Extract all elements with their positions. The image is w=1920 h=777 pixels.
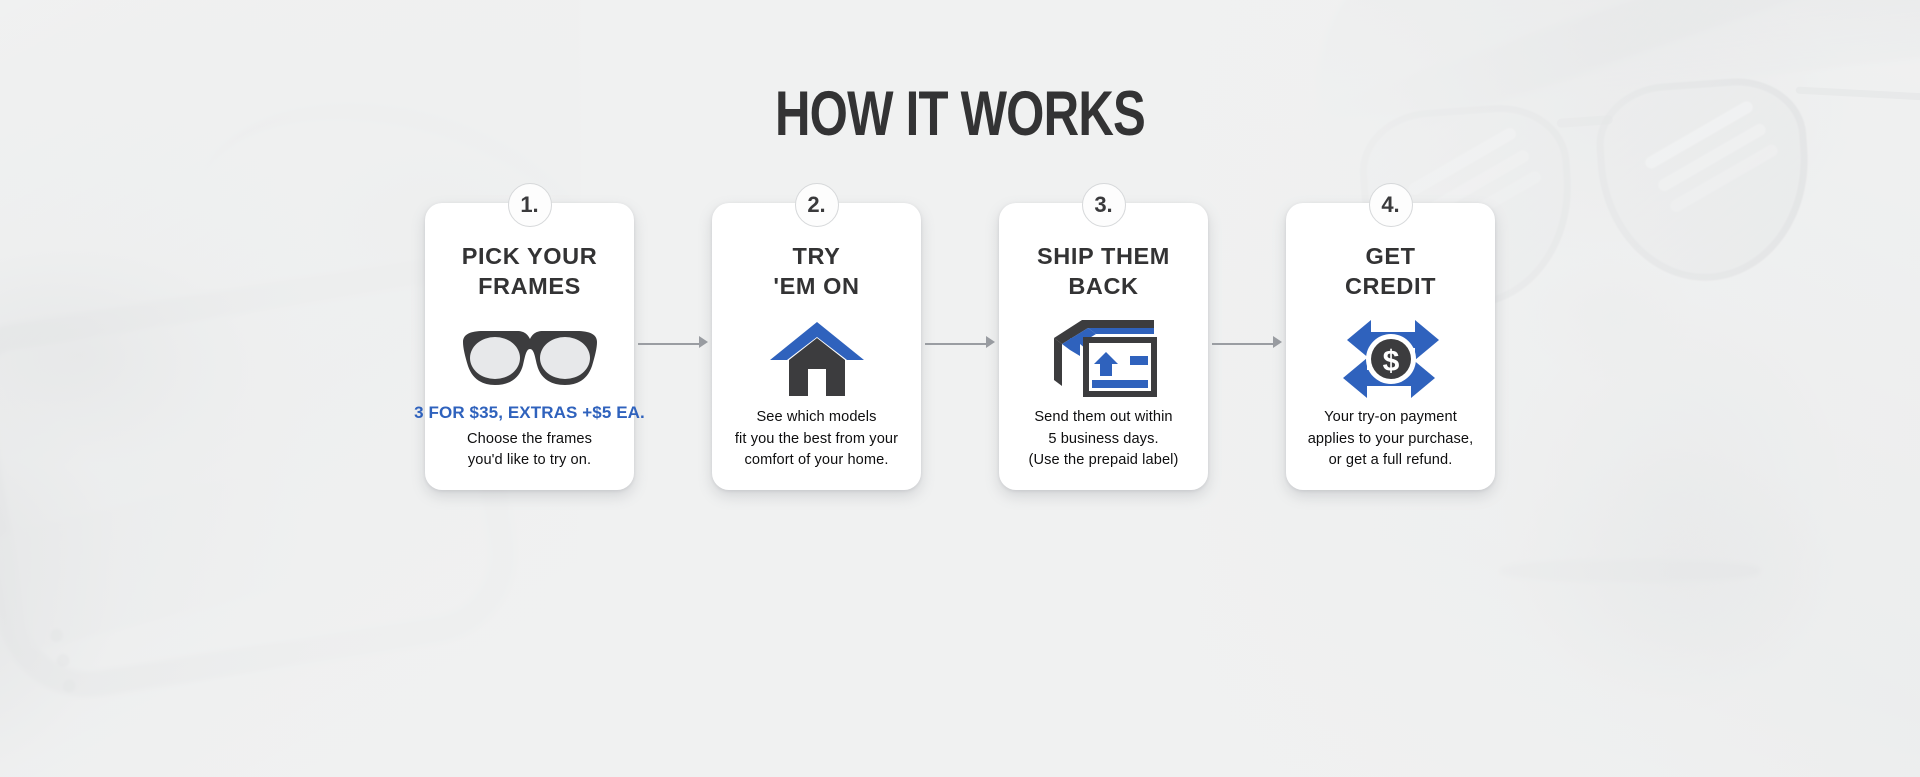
connector-arrow-2 (921, 203, 999, 490)
step-blurb-2: See which models fit you the best from y… (735, 407, 898, 472)
page-title: HOW IT WORKS (211, 78, 1709, 150)
step-2: 2. TRY 'EM ON See which models fit you t… (712, 203, 921, 490)
step-4: 4. GET CREDIT $ Your try-on payment appl… (1286, 203, 1495, 490)
step-promo-1: 3 FOR $35, EXTRAS +$5 EA. (414, 403, 645, 423)
step-number-badge-2: 2. (795, 183, 839, 227)
step-title-1: PICK YOUR FRAMES (462, 241, 598, 302)
step-card-3[interactable]: SHIP THEM BACK (999, 203, 1208, 490)
eyeglasses-icon (455, 316, 605, 402)
house-icon (769, 316, 865, 402)
step-blurb-3: Send them out within 5 business days. (U… (1029, 407, 1179, 472)
step-3: 3. SHIP THEM BACK (999, 203, 1208, 490)
step-blurb-1: Choose the frames you'd like to try on. (467, 429, 592, 472)
refund-dollar-icon: $ (1341, 316, 1441, 402)
shipping-box-icon (1048, 316, 1160, 402)
step-number-badge-1: 1. (508, 183, 552, 227)
step-card-1[interactable]: PICK YOUR FRAMES 3 FOR $35, EXTRAS +$5 E… (425, 203, 634, 490)
svg-text:$: $ (1382, 345, 1399, 378)
step-number-badge-4: 4. (1369, 183, 1413, 227)
how-it-works-section: HOW IT WORKS 1. PICK YOUR FRAMES 3 FOR $… (0, 0, 1920, 777)
step-card-4[interactable]: GET CREDIT $ Your try-on payment applies… (1286, 203, 1495, 490)
step-title-3: SHIP THEM BACK (1037, 241, 1170, 302)
connector-arrow-3 (1208, 203, 1286, 490)
step-number-badge-3: 3. (1082, 183, 1126, 227)
step-title-4: GET CREDIT (1345, 241, 1436, 302)
connector-arrow-1 (634, 203, 712, 490)
step-1: 1. PICK YOUR FRAMES 3 FOR $35, EXTRAS +$… (425, 203, 634, 490)
step-blurb-4: Your try-on payment applies to your purc… (1308, 407, 1474, 472)
step-title-2: TRY 'EM ON (773, 241, 859, 302)
step-card-2[interactable]: TRY 'EM ON See which models fit you the … (712, 203, 921, 490)
steps-row: 1. PICK YOUR FRAMES 3 FOR $35, EXTRAS +$… (0, 203, 1920, 490)
